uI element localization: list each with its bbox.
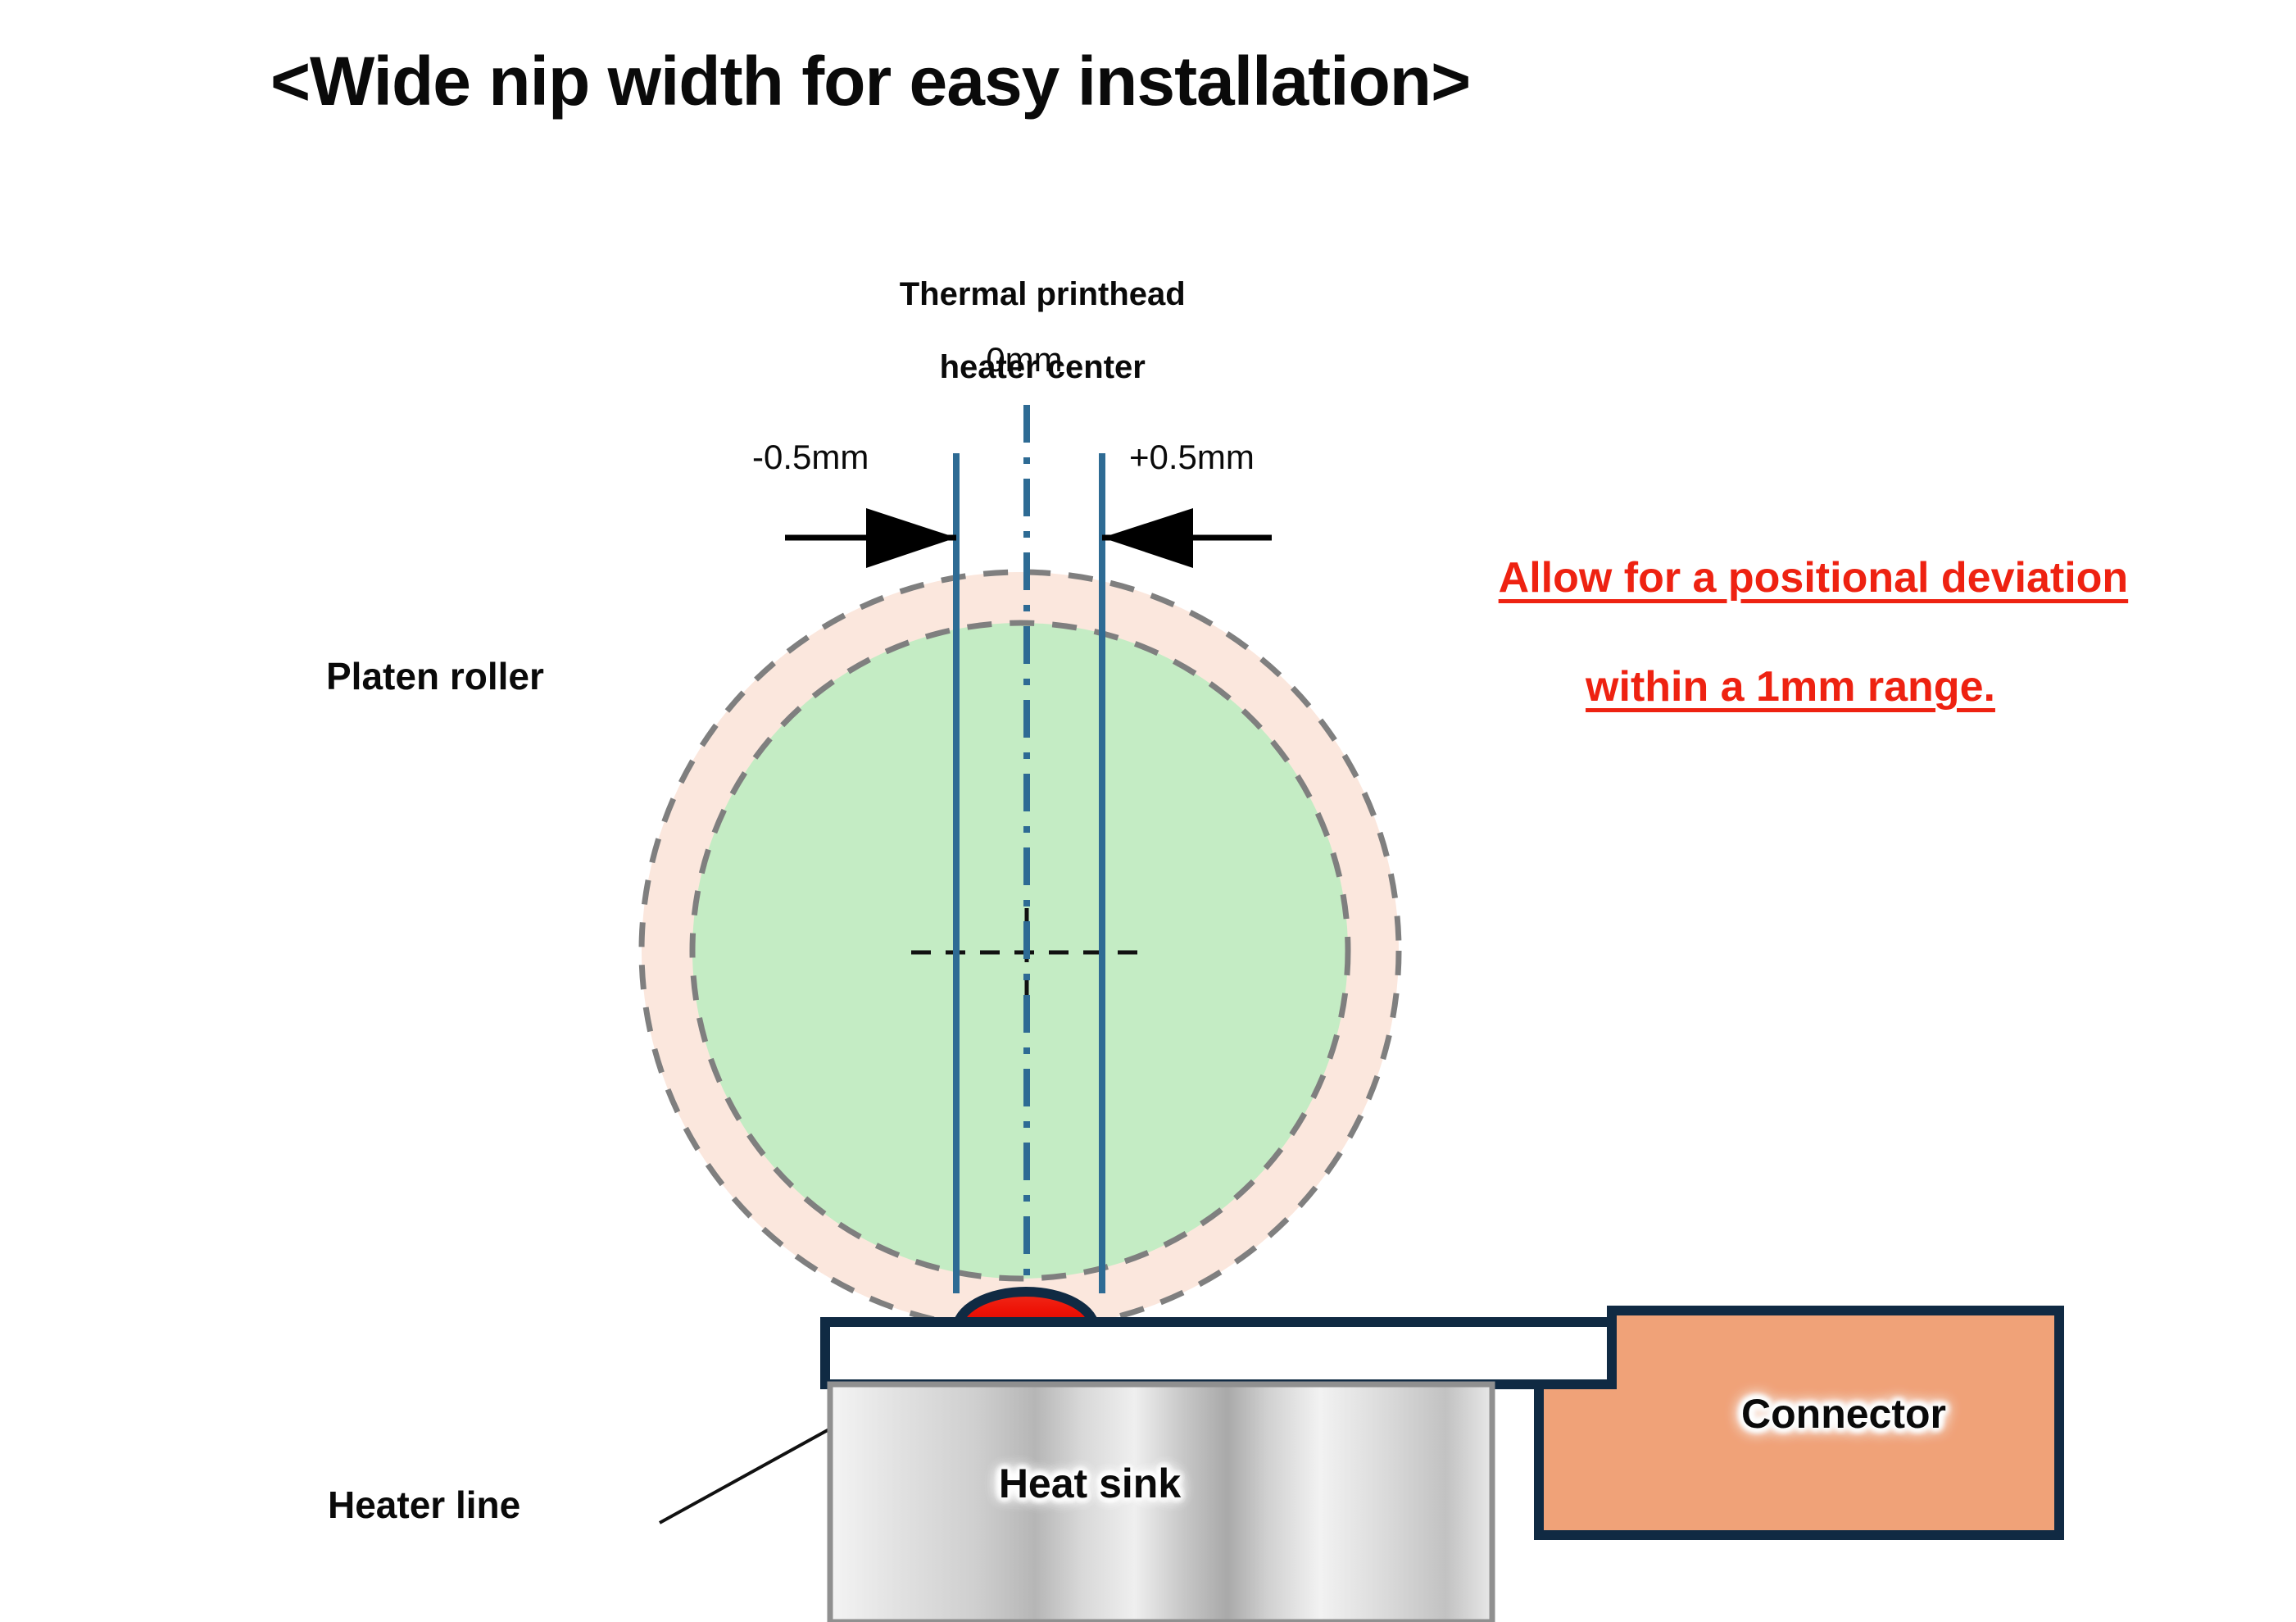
connector-label: Connector [1598,1391,2090,1437]
thermal-printhead-bar [825,1322,1612,1384]
center-value-label: 0mm [819,340,1229,379]
platen-roller-label: Platen roller [326,656,544,698]
positional-deviation-note: Allow for a positional deviation within … [1303,507,2278,806]
deviation-note-line1: Allow for a positional deviation [1499,554,2129,602]
heater-line-label: Heater line [328,1484,520,1527]
dimension-arrowhead-right [866,508,956,568]
tolerance-minus-label: -0.5mm [752,438,869,476]
printhead-center-label-line1: Thermal printhead [900,276,1186,312]
page-title: <Wide nip width for easy installation> [270,43,1470,120]
deviation-note-line2: within a 1mm range. [1586,663,1995,711]
printhead-center-label: Thermal printhead heater center [819,239,1229,423]
diagram-canvas: <Wide nip width for easy installation> T… [0,0,2296,1622]
heat-sink-label: Heat sink [844,1461,1336,1506]
dimension-arrowhead-left [1102,508,1193,568]
tolerance-plus-label: +0.5mm [1129,438,1255,476]
